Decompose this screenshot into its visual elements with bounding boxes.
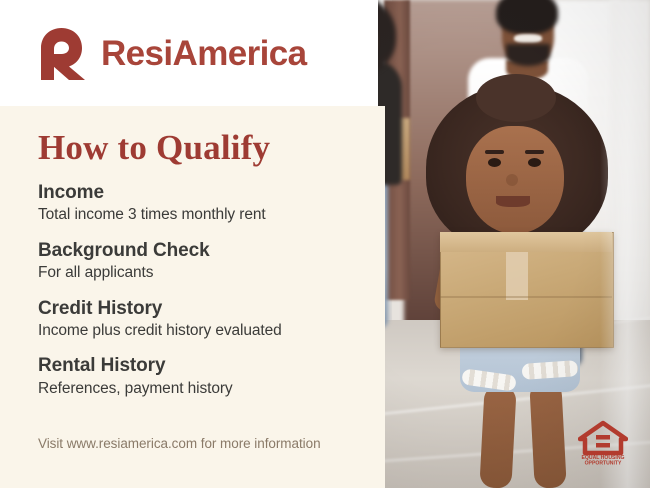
- resiamerica-r-monogram-icon: [38, 26, 88, 80]
- header-band: ResiAmerica: [0, 0, 378, 106]
- qualification-desc: Income plus credit history evaluated: [38, 321, 368, 340]
- qualification-desc: For all applicants: [38, 263, 368, 282]
- equal-housing-opportunity-icon: EQUAL HOUSING OPPORTUNITY: [578, 420, 628, 466]
- brand-wordmark: ResiAmerica: [101, 36, 306, 71]
- brand-logo[interactable]: ResiAmerica: [38, 26, 306, 80]
- qualification-term: Background Check: [38, 240, 368, 262]
- qualification-term: Credit History: [38, 298, 368, 320]
- qualification-term: Income: [38, 182, 368, 204]
- list-item: Rental History References, payment histo…: [38, 355, 368, 398]
- marketing-slide: ResiAmerica How to Qualify Income Total …: [0, 0, 650, 488]
- page-title: How to Qualify: [38, 128, 270, 168]
- list-item: Credit History Income plus credit histor…: [38, 298, 368, 341]
- qualification-desc: References, payment history: [38, 379, 368, 398]
- qualification-term: Rental History: [38, 355, 368, 377]
- list-item: Background Check For all applicants: [38, 240, 368, 283]
- qualification-desc: Total income 3 times monthly rent: [38, 205, 368, 224]
- qualification-list: Income Total income 3 times monthly rent…: [38, 182, 368, 413]
- qualify-panel: How to Qualify Income Total income 3 tim…: [0, 106, 385, 488]
- website-note[interactable]: Visit www.resiamerica.com for more infor…: [38, 436, 321, 451]
- list-item: Income Total income 3 times monthly rent: [38, 182, 368, 225]
- eho-line-2: OPPORTUNITY: [585, 461, 622, 466]
